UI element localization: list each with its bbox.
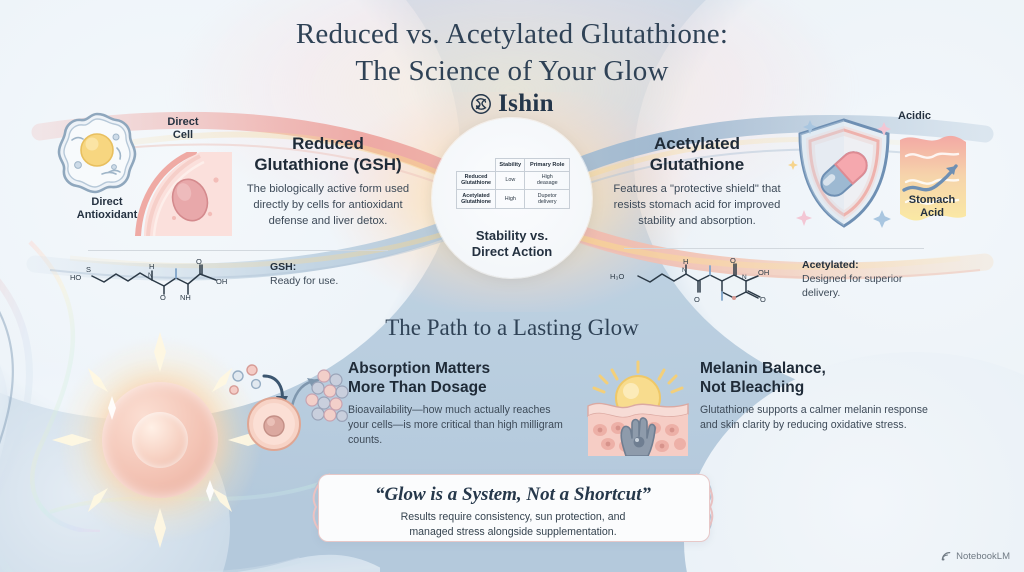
mid-section-heading: The Path to a Lasting Glow: [0, 315, 1024, 341]
annotation-stomach-acid: Stomach Acid: [892, 194, 972, 220]
annotation-direct-antioxidant-line1: Direct: [62, 196, 152, 209]
right-panel-heading-line2: Glutathione: [606, 155, 788, 176]
table-row-label-acetylated: Acetylated Glutathione: [457, 190, 496, 209]
left-panel-divider: [88, 250, 388, 251]
right-panel-acetylated-glutathione: Acetylated Glutathione Features a "prote…: [606, 108, 980, 300]
table-row-label-reduced: Reduced Glutathione: [457, 171, 496, 190]
quote-subtext-line2: managed stress alongside supplementation…: [330, 525, 696, 540]
comparison-table: Stability Primary Role Reduced Glutathio…: [456, 158, 570, 209]
table-corner-cell: [457, 159, 496, 172]
annotation-direct-antioxidant-line2: Antioxidant: [62, 209, 152, 222]
svg-text:O: O: [160, 293, 166, 300]
annotation-direct-cell-line2: Cell: [148, 129, 218, 142]
row1-role-line2: delivery: [526, 199, 568, 205]
notebooklm-logo-icon: [941, 551, 952, 562]
table-header-row: Stability Primary Role: [457, 159, 570, 172]
table-cell-reduced-role: High deasage: [525, 171, 570, 190]
right-panel-divider: [624, 248, 924, 249]
melanin-title-line1: Melanin Balance,: [700, 360, 1000, 379]
svg-text:H: H: [683, 257, 688, 266]
svg-text:HO: HO: [70, 273, 81, 282]
quote-text: “Glow is a System, Not a Shortcut”: [318, 484, 708, 506]
table-cell-acetylated-stability: High: [496, 190, 525, 209]
annotation-direct-cell-line1: Direct: [148, 116, 218, 129]
notebooklm-watermark: NotebookLM: [941, 551, 1010, 562]
svg-text:O: O: [694, 295, 700, 302]
glowing-cell-orb-graphic: [72, 352, 248, 528]
annotation-direct-cell: Direct Cell: [148, 116, 218, 142]
svg-text:N: N: [742, 274, 747, 281]
svg-text:O: O: [196, 257, 202, 266]
absorption-body: Bioavailability—how much actually reache…: [348, 403, 574, 448]
row0-label-line2: Glutathione: [458, 180, 494, 186]
table-col-stability: Stability: [496, 159, 525, 172]
right-molecule-label: Acetylated:: [802, 258, 972, 272]
left-molecule-label: GSH:: [270, 260, 410, 274]
brand-name: Ishin: [498, 90, 554, 118]
title-line-2: The Science of Your Glow: [0, 53, 1024, 90]
left-panel-reduced-glutathione: Direct Cell Direct Antioxidant Reduced G…: [48, 104, 418, 294]
svg-text:OH: OH: [758, 268, 769, 277]
svg-text:H: H: [149, 262, 154, 271]
svg-text:NH: NH: [180, 293, 191, 300]
left-panel-heading-line2: Glutathione (GSH): [238, 155, 418, 176]
shield-capsule-icon: [788, 114, 900, 234]
svg-text:N: N: [148, 272, 153, 279]
left-panel-heading-line1: Reduced: [238, 134, 418, 155]
svg-text:N: N: [682, 267, 687, 274]
table-row: Acetylated Glutathione High Dupetor deli…: [457, 190, 570, 209]
melanin-title: Melanin Balance, Not Bleaching: [700, 360, 1000, 397]
quote-subtext-line1: Results require consistency, sun protect…: [330, 510, 696, 525]
cell-illustration-icon: [54, 110, 140, 196]
page-title: Reduced vs. Acetylated Glutathione: The …: [0, 16, 1024, 90]
right-panel-body: Features a "protective shield" that resi…: [606, 182, 788, 230]
acetylated-molecule-diagram-icon: H₃O H N O O N OH O: [606, 254, 802, 302]
right-molecule-sub-line2: delivery.: [802, 286, 972, 300]
quote-subtext: Results require consistency, sun protect…: [330, 510, 696, 540]
right-panel-heading: Acetylated Glutathione: [606, 134, 788, 175]
gsh-molecule-diagram-icon: HO S H N O NH O OH: [66, 256, 262, 300]
center-caption: Stability vs. Direct Action: [432, 228, 592, 260]
notebooklm-label: NotebookLM: [956, 551, 1010, 562]
right-panel-heading-line1: Acetylated: [606, 134, 788, 155]
table-cell-acetylated-role: Dupetor delivery: [525, 190, 570, 209]
title-line-1: Reduced vs. Acetylated Glutathione:: [296, 18, 728, 50]
table-row: Reduced Glutathione Low High deasage: [457, 171, 570, 190]
annotation-acidic: Acidic: [898, 110, 968, 122]
ishin-swirl-logo-icon: [470, 93, 492, 115]
melanin-title-line2: Not Bleaching: [700, 379, 1000, 398]
annotation-stomach-acid-line1: Stomach: [892, 194, 972, 207]
melanin-body: Glutathione supports a calmer melanin re…: [700, 403, 936, 433]
table-col-primary-role: Primary Role: [525, 159, 570, 172]
card-melanin-balance: Melanin Balance, Not Bleaching Glutathio…: [700, 360, 1000, 433]
skin-cell-illustration-icon: [134, 152, 232, 236]
left-panel-heading: Reduced Glutathione (GSH): [238, 134, 418, 175]
center-caption-line2: Direct Action: [432, 244, 592, 260]
svg-text:O: O: [730, 256, 736, 265]
right-molecule-sub-line1: Designed for superior: [802, 272, 972, 286]
left-molecule-sub: Ready for use.: [270, 274, 410, 288]
annotation-direct-antioxidant: Direct Antioxidant: [62, 196, 152, 222]
cell-absorption-icon: [226, 362, 352, 454]
svg-text:S: S: [86, 265, 91, 274]
left-panel-body: The biologically active form used direct…: [238, 182, 418, 230]
svg-text:H₃O: H₃O: [610, 272, 624, 281]
svg-text:O: O: [760, 295, 766, 302]
infographic-canvas: Reduced vs. Acetylated Glutathione: The …: [0, 0, 1024, 572]
sun-skin-layers-icon: [582, 360, 694, 456]
annotation-stomach-acid-line2: Acid: [892, 207, 972, 220]
center-caption-line1: Stability vs.: [432, 228, 592, 244]
svg-text:OH: OH: [216, 277, 227, 286]
row0-role-line2: deasage: [526, 180, 568, 186]
table-cell-reduced-stability: Low: [496, 171, 525, 190]
row1-label-line2: Glutathione: [458, 199, 494, 205]
